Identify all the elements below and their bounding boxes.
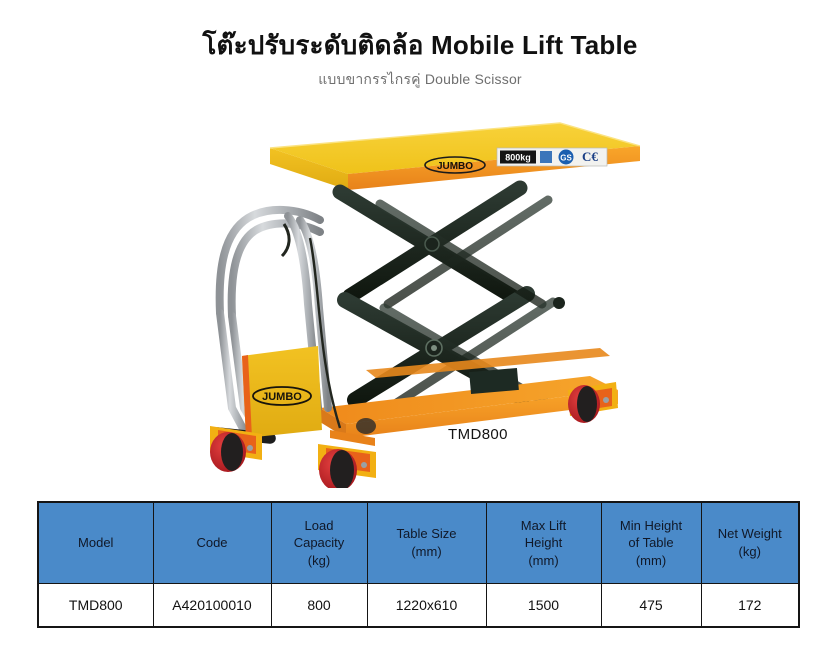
header-line: Height (490, 534, 598, 552)
caster-front-center (318, 444, 376, 488)
column-header-model: Model (38, 502, 153, 584)
specification-table: Model Code Load Capacity (kg) Table Size… (37, 501, 800, 628)
column-header-max-lift-height: Max Lift Height (mm) (486, 502, 601, 584)
header-line: Capacity (275, 534, 364, 552)
column-header-table-size: Table Size (mm) (367, 502, 486, 584)
caster-rear-left (356, 418, 376, 434)
caster-rear-right (568, 382, 618, 423)
capacity-sticker: 800kg GS C€ (497, 148, 607, 166)
header-line: Table Size (371, 525, 483, 543)
jumbo-logo-panel-text: JUMBO (262, 391, 302, 403)
cell-load-capacity: 800 (271, 584, 367, 628)
header-line: (kg) (275, 552, 364, 570)
header-line: Code (157, 534, 268, 552)
cell-net-weight: 172 (701, 584, 799, 628)
specification-table-wrapper: Model Code Load Capacity (kg) Table Size… (37, 501, 798, 628)
header-line: Max Lift (490, 517, 598, 535)
product-photo: JUMBO 800kg GS C€ (170, 108, 640, 488)
handle-lever (282, 224, 289, 256)
cell-min-height-of-table: 475 (601, 584, 701, 628)
column-header-min-height-of-table: Min Height of Table (mm) (601, 502, 701, 584)
jumbo-logo-platform-text: JUMBO (437, 161, 473, 172)
cell-model: TMD800 (38, 584, 153, 628)
page-header: โต๊ะปรับระดับติดล้อ Mobile Lift Table แบ… (0, 0, 840, 91)
header-line: (mm) (490, 552, 598, 570)
header-line: (mm) (371, 543, 483, 561)
cell-table-size: 1220x610 (367, 584, 486, 628)
cell-code: A420100010 (153, 584, 271, 628)
header-line: Model (42, 534, 150, 552)
capacity-sticker-text: 800kg (505, 153, 531, 163)
column-header-net-weight: Net Weight (kg) (701, 502, 799, 584)
page-title: โต๊ะปรับระดับติดล้อ Mobile Lift Table (0, 30, 840, 61)
header-line: (kg) (705, 543, 796, 561)
ce-mark-text: C€ (582, 149, 598, 164)
cell-max-lift-height: 1500 (486, 584, 601, 628)
gs-mark-text: GS (560, 154, 572, 163)
column-header-code: Code (153, 502, 271, 584)
mobile-lift-table-illustration: JUMBO 800kg GS C€ (170, 108, 640, 488)
header-line: Load (275, 517, 364, 535)
page-subtitle: แบบขากรรไกรคู่ Double Scissor (0, 69, 840, 91)
product-model-caption: TMD800 (448, 426, 508, 443)
header-line: (mm) (605, 552, 698, 570)
caster-front-left (210, 426, 262, 472)
side-panel: JUMBO (242, 346, 322, 438)
header-line: Net Weight (705, 525, 796, 543)
header-line: of Table (605, 534, 698, 552)
column-header-load-capacity: Load Capacity (kg) (271, 502, 367, 584)
table-row: TMD800 A420100010 800 1220x610 1500 475 … (38, 584, 799, 628)
table-header-row: Model Code Load Capacity (kg) Table Size… (38, 502, 799, 584)
header-line: Min Height (605, 517, 698, 535)
